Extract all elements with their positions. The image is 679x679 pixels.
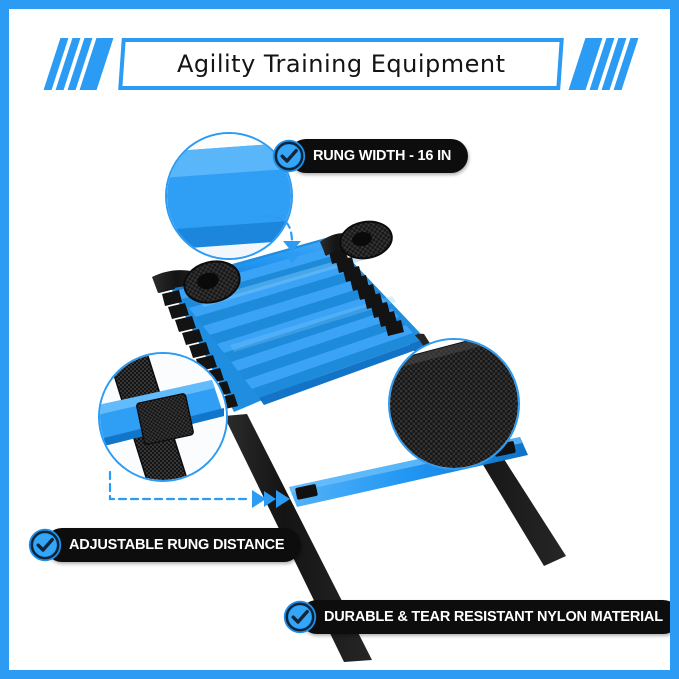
feature-label: RUNG WIDTH - 16 IN bbox=[289, 148, 468, 164]
bubble-nylon-weave-closeup bbox=[388, 338, 520, 470]
badge-pill: RUNG WIDTH - 16 IN bbox=[289, 139, 468, 173]
product-illustration bbox=[0, 0, 679, 679]
check-circle-icon bbox=[283, 600, 317, 634]
bubble-rung-clip-closeup bbox=[98, 352, 228, 482]
check-circle-icon bbox=[28, 528, 62, 562]
feature-label: DURABLE & TEAR RESISTANT NYLON MATERIAL bbox=[300, 609, 679, 625]
rung-clip-closeup-art bbox=[100, 354, 228, 482]
badge-pill: DURABLE & TEAR RESISTANT NYLON MATERIAL bbox=[300, 600, 679, 634]
feature-label: ADJUSTABLE RUNG DISTANCE bbox=[45, 537, 301, 553]
check-circle-icon bbox=[272, 139, 306, 173]
infographic-page: Agility Training Equipment RUNG WIDTH - … bbox=[0, 0, 679, 679]
nylon-weave-closeup-art bbox=[390, 340, 520, 470]
badge-pill: ADJUSTABLE RUNG DISTANCE bbox=[45, 528, 301, 562]
